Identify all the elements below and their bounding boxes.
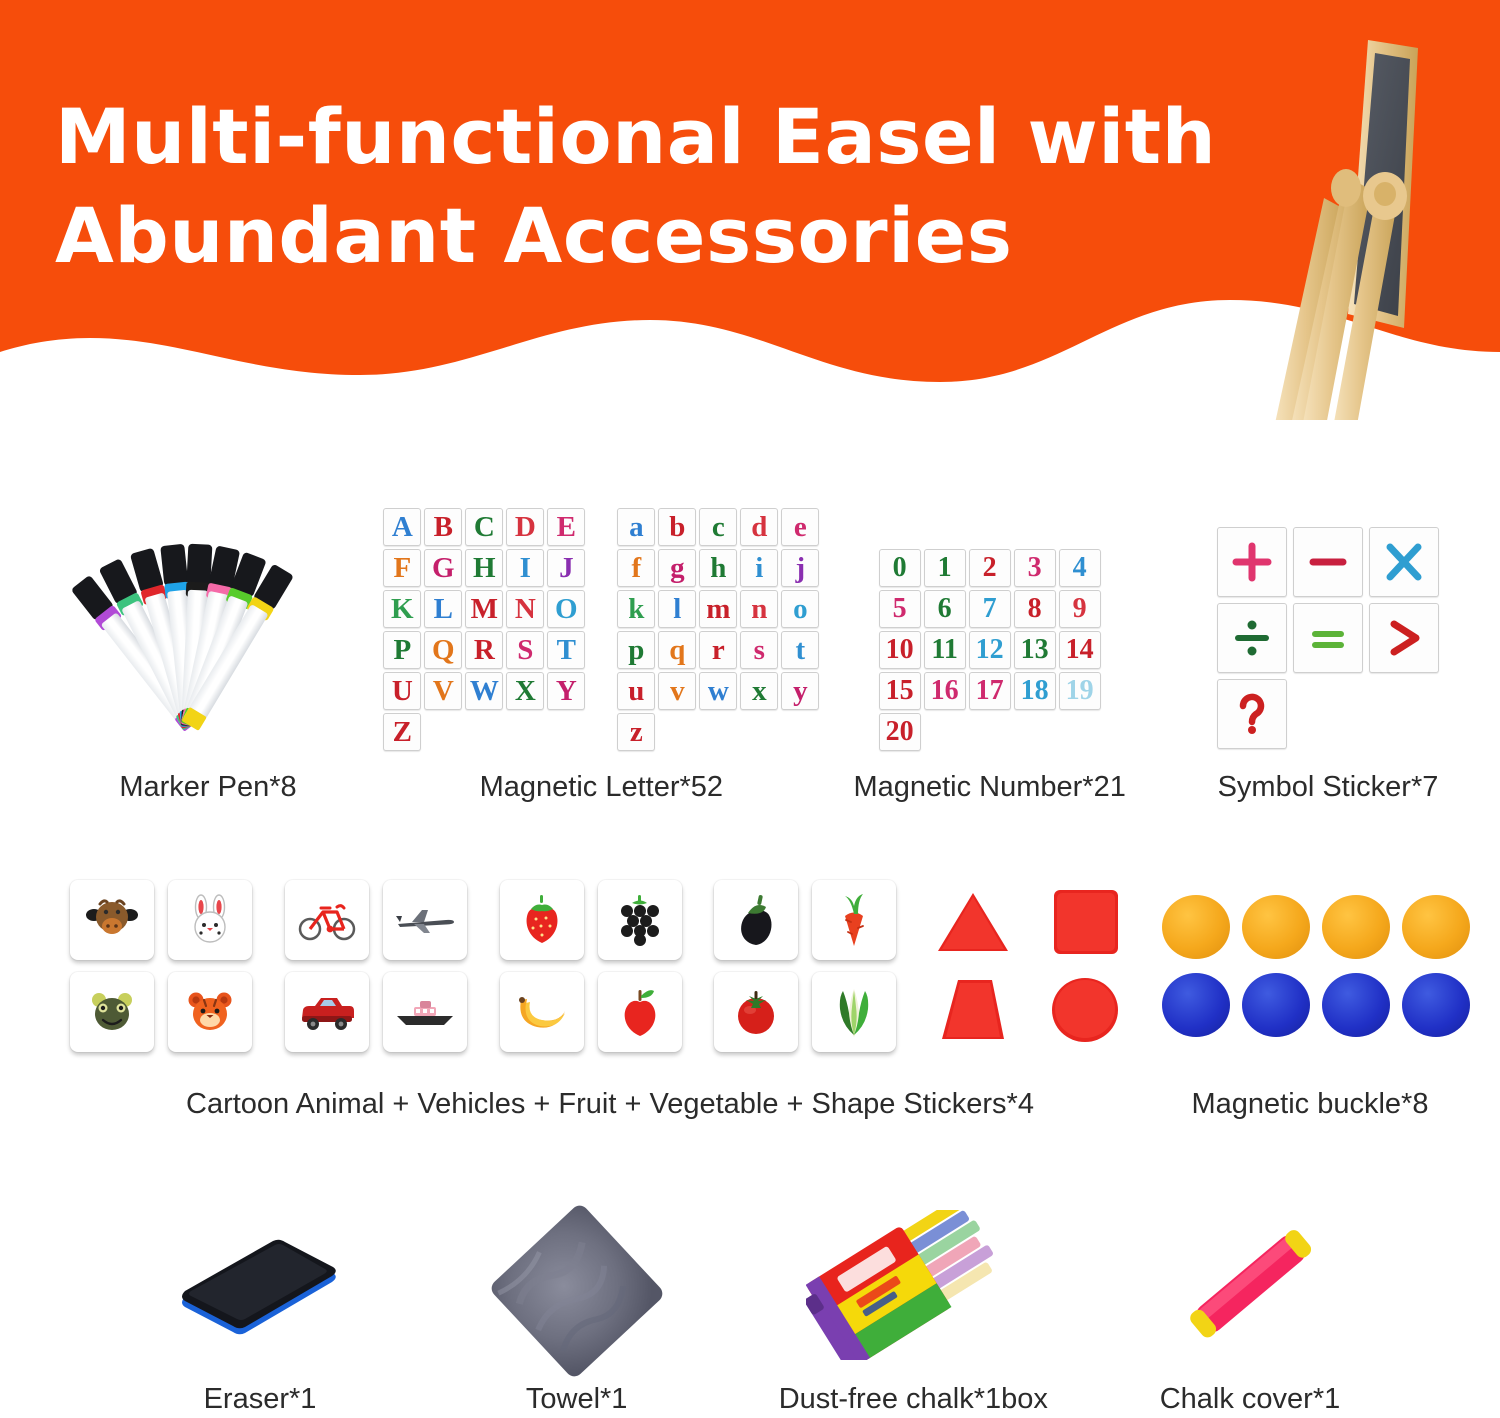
symbol-grid (1217, 527, 1439, 749)
number-tile-20: 20 (879, 713, 921, 751)
accessory-row-1: Marker Pen*8 ABCDEFGHIJKLMNOPQRSTUVWXYZ … (38, 508, 1468, 804)
square-shape (1041, 883, 1129, 961)
cartoon-animal-cards (70, 880, 252, 1052)
letter-tile-q: q (658, 631, 696, 669)
accessory-magnetic-number: 01234567891011121314151617181920 Magneti… (825, 549, 1155, 804)
accessory-magnetic-letter: ABCDEFGHIJKLMNOPQRSTUVWXYZ abcdefghijklm… (411, 508, 791, 804)
number-tile-17: 17 (969, 672, 1011, 710)
magnetic-letter-art: ABCDEFGHIJKLMNOPQRSTUVWXYZ abcdefghijklm… (383, 508, 819, 751)
plus-symbol-icon (1217, 527, 1287, 597)
buckle-blue (1322, 973, 1390, 1037)
rabbit-icon (168, 880, 252, 960)
chalk-box-label: Dust-free chalk*1box (779, 1383, 1048, 1416)
eraser-icon (165, 1223, 355, 1343)
letter-tile-Z: Z (383, 713, 421, 751)
letter-tile-w: w (699, 672, 737, 710)
equals-symbol-icon (1293, 603, 1363, 673)
letter-tile-a: a (617, 508, 655, 546)
accessory-marker-pen: Marker Pen*8 (38, 514, 378, 804)
accessory-eraser: Eraser*1 (110, 1190, 410, 1416)
letter-tile-h: h (699, 549, 737, 587)
eggplant-icon (714, 880, 798, 960)
letter-tile-g: g (658, 549, 696, 587)
vegetable-cards (714, 880, 896, 1052)
chalk-cover-icon (1150, 1213, 1350, 1353)
letter-tile-k: k (617, 590, 655, 628)
letter-tile-G: G (424, 549, 462, 587)
letter-tile-z: z (617, 713, 655, 751)
letter-tile-K: K (383, 590, 421, 628)
number-tile-13: 13 (1014, 631, 1056, 669)
letter-tile-L: L (424, 590, 462, 628)
number-tile-0: 0 (879, 549, 921, 587)
accessory-row-2: Cartoon Animal + Vehicles + Fruit + Vege… (70, 880, 1470, 1121)
number-tile-8: 8 (1014, 590, 1056, 628)
fruit-cards (500, 880, 682, 1052)
multiply-symbol-icon (1369, 527, 1439, 597)
letter-tile-D: D (506, 508, 544, 546)
letter-tile-F: F (383, 549, 421, 587)
accessory-chalk-cover: Chalk cover*1 (1100, 1190, 1400, 1416)
letter-tile-y: y (781, 672, 819, 710)
chalk-cover-label: Chalk cover*1 (1160, 1383, 1341, 1416)
number-grid: 01234567891011121314151617181920 (879, 549, 1101, 751)
strawberry-icon (500, 880, 584, 960)
number-tile-12: 12 (969, 631, 1011, 669)
magnetic-letter-label: Magnetic Letter*52 (480, 771, 723, 804)
letter-tile-l: l (658, 590, 696, 628)
lowercase-letter-grid: abcdefghijklmnopqrstuvwxyz (617, 508, 819, 751)
buckle-amber (1162, 895, 1230, 959)
accessory-row-3: Eraser*1 Towel*1 (110, 1190, 1400, 1416)
marker-pens-icon (38, 514, 378, 729)
letter-tile-H: H (465, 549, 503, 587)
letter-tile-A: A (383, 508, 421, 546)
number-tile-3: 3 (1014, 549, 1056, 587)
number-tile-19: 19 (1059, 672, 1101, 710)
uppercase-letter-grid: ABCDEFGHIJKLMNOPQRSTUVWXYZ (383, 508, 585, 751)
letter-tile-i: i (740, 549, 778, 587)
towel-icon (482, 1201, 672, 1381)
question-symbol-icon (1217, 679, 1287, 749)
letter-tile-o: o (781, 590, 819, 628)
letter-tile-R: R (465, 631, 503, 669)
accessory-chalk-box: Dust-free chalk*1box (743, 1192, 1083, 1416)
carrot-icon (812, 880, 896, 960)
letter-tile-t: t (781, 631, 819, 669)
number-tile-5: 5 (879, 590, 921, 628)
letter-tile-u: u (617, 672, 655, 710)
letter-tile-E: E (547, 508, 585, 546)
letter-tile-P: P (383, 631, 421, 669)
buckle-blue (1402, 973, 1470, 1037)
towel-art (427, 1198, 727, 1383)
letter-tile-c: c (699, 508, 737, 546)
circle-shape (1041, 971, 1129, 1049)
eraser-art (110, 1190, 410, 1375)
apple-icon (598, 972, 682, 1052)
number-tile-9: 9 (1059, 590, 1101, 628)
number-tile-11: 11 (924, 631, 966, 669)
eraser-label: Eraser*1 (204, 1383, 317, 1416)
letter-tile-X: X (506, 672, 544, 710)
letter-tile-n: n (740, 590, 778, 628)
cow-icon (70, 880, 154, 960)
letter-tile-Y: Y (547, 672, 585, 710)
boat-icon (383, 972, 467, 1052)
number-tile-4: 4 (1059, 549, 1101, 587)
number-tile-16: 16 (924, 672, 966, 710)
letter-tile-B: B (424, 508, 462, 546)
triangle-shape (929, 883, 1017, 961)
letter-tile-Q: Q (424, 631, 462, 669)
letter-tile-v: v (658, 672, 696, 710)
letter-tile-j: j (781, 549, 819, 587)
letter-tile-f: f (617, 549, 655, 587)
letter-tile-p: p (617, 631, 655, 669)
marker-pen-label: Marker Pen*8 (119, 771, 296, 804)
tiger-icon (168, 972, 252, 1052)
number-tile-1: 1 (924, 549, 966, 587)
letter-tile-T: T (547, 631, 585, 669)
easel-illustration (1228, 28, 1468, 420)
accessory-magnetic-buckle (1162, 895, 1470, 1037)
buckle-amber (1242, 895, 1310, 959)
bicycle-icon (285, 880, 369, 960)
letter-tile-S: S (506, 631, 544, 669)
letter-tile-V: V (424, 672, 462, 710)
number-tile-15: 15 (879, 672, 921, 710)
magnetic-number-label: Magnetic Number*21 (853, 771, 1125, 804)
letter-tile-d: d (740, 508, 778, 546)
buckle-amber (1322, 895, 1390, 959)
number-tile-14: 14 (1059, 631, 1101, 669)
letter-tile-J: J (547, 549, 585, 587)
minus-symbol-icon (1293, 527, 1363, 597)
header-banner: Multi-functional Easel with Abundant Acc… (0, 0, 1500, 420)
towel-label: Towel*1 (526, 1383, 628, 1416)
symbol-sticker-label: Symbol Sticker*7 (1218, 771, 1439, 804)
tomato-icon (714, 972, 798, 1052)
letter-tile-C: C (465, 508, 503, 546)
trapezoid-shape (929, 971, 1017, 1049)
letter-tile-N: N (506, 590, 544, 628)
vehicle-cards (285, 880, 467, 1052)
cabbage-icon (812, 972, 896, 1052)
frog-icon (70, 972, 154, 1052)
divide-symbol-icon (1217, 603, 1287, 673)
letter-tile-s: s (740, 631, 778, 669)
number-tile-2: 2 (969, 549, 1011, 587)
number-tile-18: 18 (1014, 672, 1056, 710)
car-icon (285, 972, 369, 1052)
greater-than-symbol-icon (1369, 603, 1439, 673)
chalk-box-icon (806, 1210, 1021, 1360)
letter-tile-O: O (547, 590, 585, 628)
accessory-towel: Towel*1 (427, 1198, 727, 1416)
banana-icon (500, 972, 584, 1052)
number-tile-10: 10 (879, 631, 921, 669)
magnetic-buckle-label: Magnetic buckle*8 (1150, 1088, 1470, 1121)
letter-tile-U: U (383, 672, 421, 710)
airplane-icon (383, 880, 467, 960)
letter-tile-I: I (506, 549, 544, 587)
letter-tile-m: m (699, 590, 737, 628)
letter-tile-b: b (658, 508, 696, 546)
page-title: Multi-functional Easel with Abundant Acc… (55, 88, 1315, 286)
buckle-amber (1402, 895, 1470, 959)
grapes-icon (598, 880, 682, 960)
letter-tile-W: W (465, 672, 503, 710)
letter-tile-x: x (740, 672, 778, 710)
letter-tile-r: r (699, 631, 737, 669)
chalk-box-art (763, 1192, 1063, 1377)
number-tile-7: 7 (969, 590, 1011, 628)
sticker-combo-label: Cartoon Animal + Vehicles + Fruit + Vege… (70, 1088, 1150, 1121)
magnetic-number-art: 01234567891011121314151617181920 (879, 549, 1101, 751)
letter-tile-M: M (465, 590, 503, 628)
buckle-blue (1242, 973, 1310, 1037)
shape-stickers (929, 883, 1129, 1049)
product-infographic: Multi-functional Easel with Abundant Acc… (0, 0, 1500, 1418)
chalk-cover-art (1100, 1190, 1400, 1375)
buckle-blue (1162, 973, 1230, 1037)
symbol-sticker-art (1217, 527, 1439, 749)
accessory-symbol-sticker: Symbol Sticker*7 (1188, 527, 1468, 804)
letter-tile-e: e (781, 508, 819, 546)
marker-pen-art (38, 514, 378, 729)
number-tile-6: 6 (924, 590, 966, 628)
magnetic-buckles-icon (1162, 895, 1470, 1037)
